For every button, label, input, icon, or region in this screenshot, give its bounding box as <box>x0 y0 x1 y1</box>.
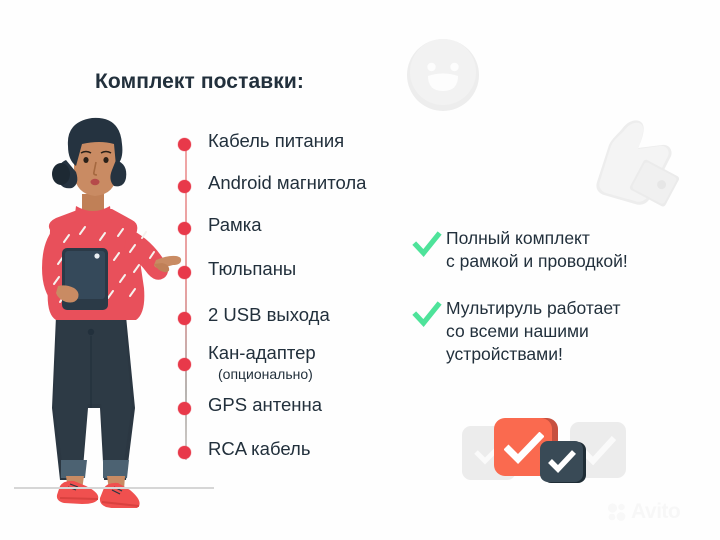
avito-logo-icon <box>607 502 627 522</box>
bullet-dot <box>178 180 191 193</box>
bullet-dot <box>178 358 191 371</box>
check-icon <box>412 230 442 260</box>
poster-canvas: Комплект поставки: Кабель питания Androi… <box>0 0 720 540</box>
list-item-label: Кабель питания <box>208 130 344 152</box>
avito-brand-text: Avito <box>631 500 680 524</box>
woman-with-tablet-illustration <box>8 108 183 508</box>
bullet-dot <box>178 138 191 151</box>
list-item-label: Кан-адаптер <box>208 342 316 364</box>
list-item-label: Рамка <box>208 214 262 236</box>
bullet-dot <box>178 312 191 325</box>
bullet-dot <box>178 222 191 235</box>
benefits-block: Полный комплект с рамкой и проводкой! Му… <box>412 230 702 398</box>
bullet-dot <box>178 266 191 279</box>
check-icon <box>504 432 544 464</box>
benefit-label: Мультируль работает со всеми нашими устр… <box>446 297 621 366</box>
bullet-dot <box>178 402 191 415</box>
check-icon <box>412 300 442 330</box>
check-icon <box>548 450 576 473</box>
ground-line <box>14 487 214 489</box>
list-item-label: RCA кабель <box>208 438 310 460</box>
benefit-item: Полный комплект с рамкой и проводкой! <box>412 230 702 282</box>
bullet-dot <box>178 446 191 459</box>
benefit-item: Мультируль работает со всеми нашими устр… <box>412 300 702 380</box>
page-title: Комплект поставки: <box>95 70 304 94</box>
check-card-icons <box>458 414 618 486</box>
thumbs-up-icon <box>578 112 688 217</box>
list-item-label: GPS антенна <box>208 394 322 416</box>
list-item-label: Тюльпаны <box>208 258 296 280</box>
smiley-face-icon <box>406 38 480 112</box>
list-item-label: Android магнитола <box>208 172 366 194</box>
list-item-sublabel: (опционально) <box>218 366 313 382</box>
list-item-label: 2 USB выхода <box>208 304 330 326</box>
avito-watermark: Avito <box>607 500 680 524</box>
benefit-label: Полный комплект с рамкой и проводкой! <box>446 227 628 273</box>
